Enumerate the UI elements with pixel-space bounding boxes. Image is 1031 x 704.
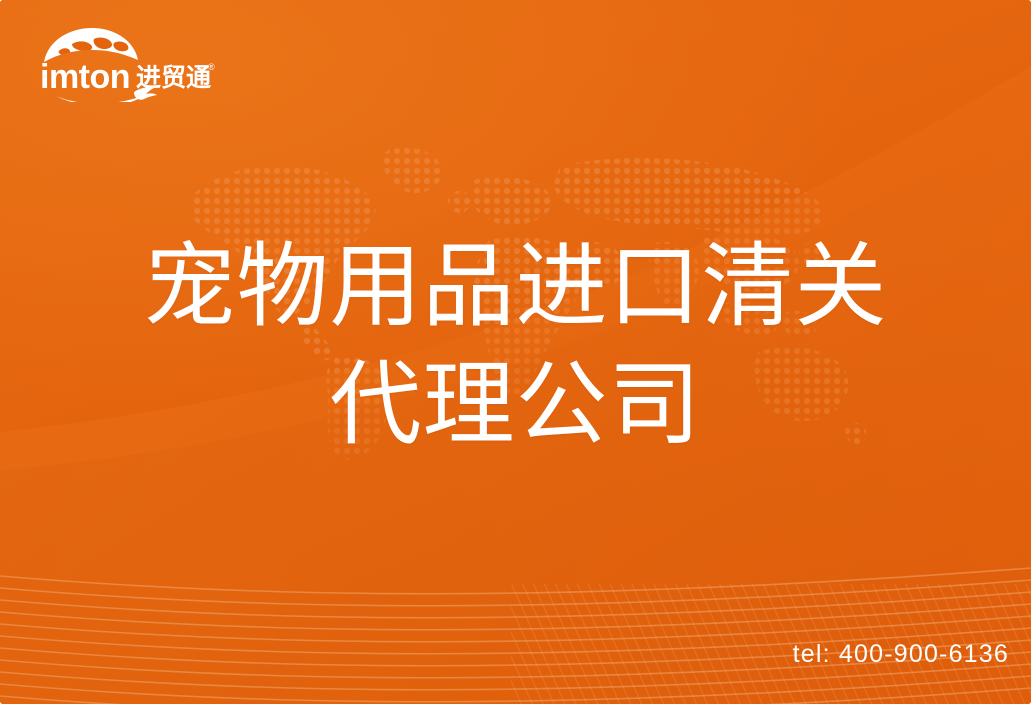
telephone-text: tel: 400-900-6136 (793, 640, 1009, 669)
headline-line-2: 代理公司 (0, 346, 1031, 464)
logo-wordmark: imton (40, 58, 130, 96)
trademark-icon: ® (208, 62, 215, 72)
page-title: 宠物用品进口清关 代理公司 (0, 228, 1031, 464)
headline-line-1: 宠物用品进口清关 (0, 228, 1031, 346)
promo-banner: imton 进贸通 ® 宠物用品进口清关 代理公司 tel: 400-900-6… (0, 0, 1031, 704)
brand-logo[interactable]: imton 进贸通 ® (38, 26, 218, 102)
globe-swoosh-icon: imton 进贸通 ® (38, 26, 218, 102)
